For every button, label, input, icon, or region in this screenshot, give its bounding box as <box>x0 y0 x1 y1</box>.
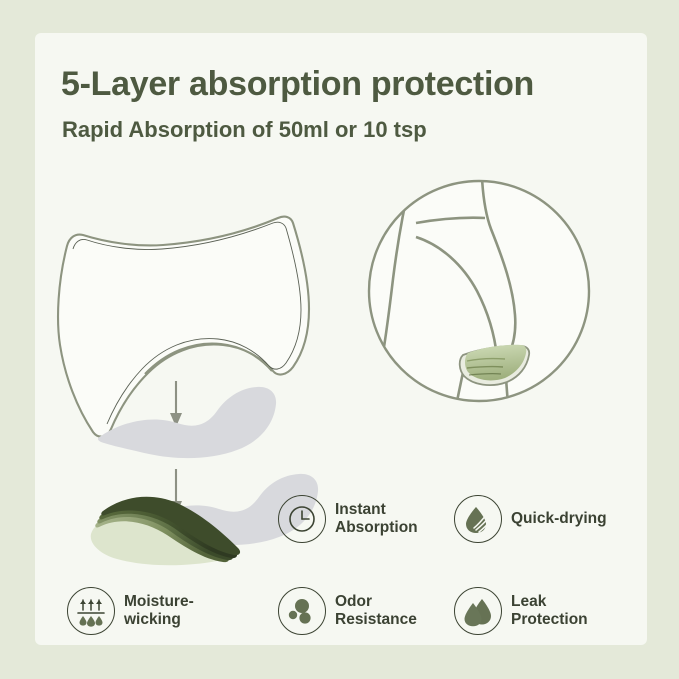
body-profile-inset <box>369 178 589 445</box>
feature-label: Moisture- wicking <box>124 593 194 630</box>
feature-list: Instant Absorption Quick-drying <box>35 453 647 643</box>
feature-label: Quick-drying <box>511 510 607 528</box>
feature-odor-resistance[interactable]: Odor Resistance <box>278 587 417 635</box>
feature-label: Instant Absorption <box>335 501 418 538</box>
feature-moisture-wicking[interactable]: Moisture- wicking <box>67 587 194 635</box>
page-subtitle: Rapid Absorption of 50ml or 10 tsp <box>62 117 427 143</box>
clock-icon <box>278 495 326 543</box>
double-droplet-icon <box>454 587 502 635</box>
page-title: 5-Layer absorption protection <box>61 65 534 104</box>
flow-arrow <box>170 381 182 427</box>
arrows-up-droplets-icon <box>67 587 115 635</box>
infographic-canvas: 5-Layer absorption protection Rapid Abso… <box>0 0 679 679</box>
infographic-card: 5-Layer absorption protection Rapid Abso… <box>35 33 647 645</box>
three-dots-icon <box>278 587 326 635</box>
feature-quick-drying[interactable]: Quick-drying <box>454 495 607 543</box>
droplet-airflow-icon <box>454 495 502 543</box>
feature-label: Leak Protection <box>511 593 588 630</box>
underwear-illustration <box>58 217 309 437</box>
feature-label: Odor Resistance <box>335 593 417 630</box>
feature-leak-protection[interactable]: Leak Protection <box>454 587 588 635</box>
feature-instant-absorption[interactable]: Instant Absorption <box>278 495 418 543</box>
